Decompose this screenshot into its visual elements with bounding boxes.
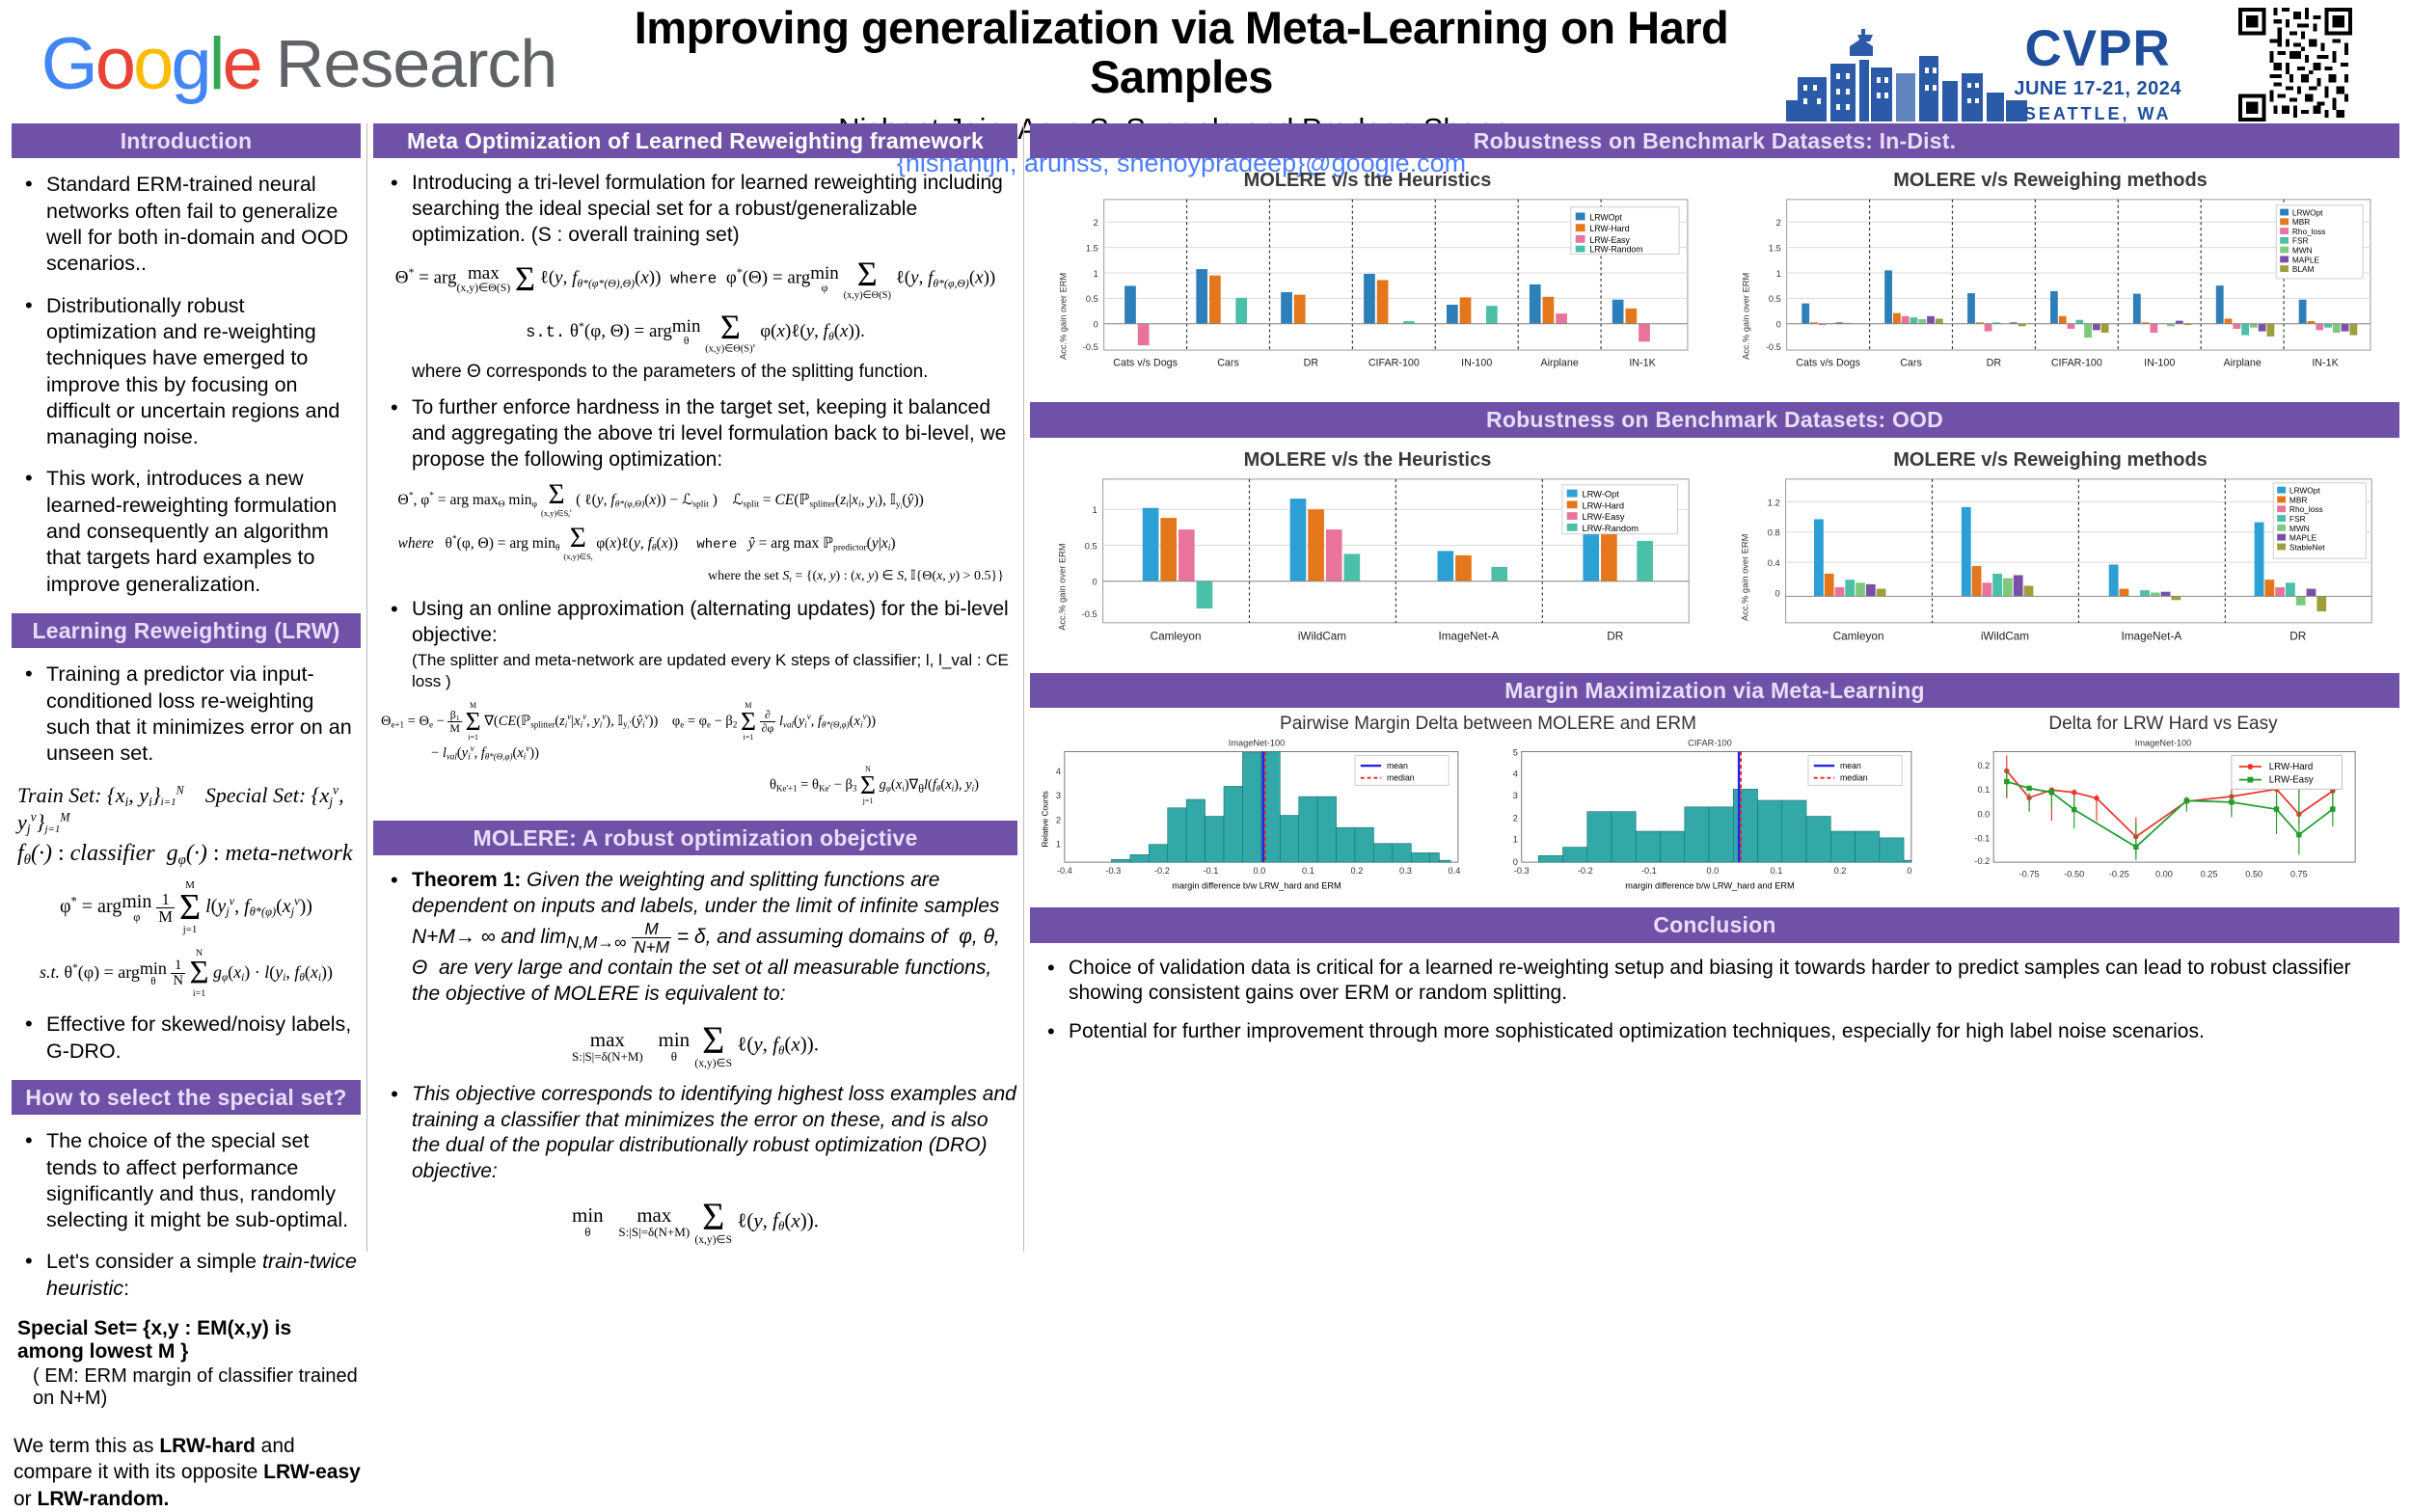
- lrw-bullets: Training a predictor via input-condition…: [12, 661, 361, 767]
- chart-legend: LRW-Hard LRW-Easy: [2232, 756, 2343, 790]
- list-item: To further enforce hardness in the targe…: [383, 395, 1017, 472]
- chart-title: MOLERE v/s Reweighing methods: [1713, 170, 2388, 192]
- section-header-conclusion: Conclusion: [1030, 907, 2399, 942]
- svg-text:FSR: FSR: [2292, 236, 2309, 246]
- svg-text:0.0: 0.0: [1254, 866, 1266, 876]
- equation-bilevel-1: Θ*, φ* = arg maxΘ minφ Σ(x,y)∈Stc ( ℓ(y,…: [383, 482, 1017, 519]
- svg-text:0.50: 0.50: [2245, 870, 2262, 879]
- svg-text:Acc.% gain over ERM: Acc.% gain over ERM: [1742, 273, 1751, 360]
- poster-root: Google Research Improving generalization…: [0, 0, 2411, 1446]
- svg-text:-0.4: -0.4: [1057, 866, 1072, 876]
- svg-text:0: 0: [1094, 320, 1098, 330]
- list-item: Training a predictor via input-condition…: [17, 661, 361, 767]
- em-note: ( EM: ERM margin of classifier trained o…: [33, 1365, 361, 1410]
- svg-text:0.1: 0.1: [1977, 786, 1990, 796]
- chart-ood-reweighting: MOLERE v/s Reweighing methods 1.20.80.40…: [1713, 442, 2388, 667]
- svg-text:4: 4: [1513, 769, 1518, 779]
- online-approx-subnote: (The splitter and meta-network are updat…: [412, 650, 1017, 691]
- svg-text:4: 4: [1056, 767, 1061, 776]
- svg-text:2: 2: [1094, 219, 1098, 229]
- svg-text:3: 3: [1056, 791, 1061, 800]
- equation-dro-minmax: minθ maxS:|S|=δ(N+M) Σ(x,y)∈S ℓ(y, fθ(x)…: [373, 1199, 1017, 1246]
- svg-text:-0.5: -0.5: [1083, 342, 1098, 352]
- svg-text:Cats v/s Dogs: Cats v/s Dogs: [1796, 358, 1860, 369]
- equation-tri-level-2: s.t. θ*(φ, Θ) = argminθ Σ(x,y)∈Θ(S)c φ(x…: [373, 310, 1017, 355]
- svg-text:MAPLE: MAPLE: [2289, 532, 2317, 542]
- svg-text:0.1: 0.1: [1302, 866, 1314, 876]
- svg-text:0.25: 0.25: [2201, 870, 2218, 879]
- equation-bilevel-2: where θ*(φ, Θ) = arg minθ Σ(x,y)∈St φ(x)…: [383, 526, 1017, 562]
- svg-text:DR: DR: [1607, 630, 1623, 642]
- svg-text:0: 0: [1775, 588, 1780, 598]
- chart-ood-heuristics: MOLERE v/s the Heuristics 10.50-0.5 Acc.…: [1030, 442, 1705, 667]
- chart-svg: ImageNet-100: [1030, 735, 1483, 899]
- list-item: Potential for further improvement throug…: [1040, 1019, 2399, 1045]
- chart-title: MOLERE v/s Reweighing methods: [1713, 449, 2388, 472]
- variants-text-f: LRW-random.: [38, 1488, 170, 1510]
- page-title: Improving generalization via Meta-Learni…: [598, 4, 1765, 102]
- svg-text:1.5: 1.5: [1769, 244, 1781, 254]
- svg-text:1: 1: [1093, 505, 1097, 515]
- list-item: Distributionally robust optimization and…: [17, 293, 361, 451]
- section-header-molere: MOLERE: A robust optimization obejctive: [373, 821, 1017, 855]
- svg-text:LRWOpt: LRWOpt: [1589, 213, 1622, 223]
- special-set-definition: Special Set= {x,y : EM(x,y) is among low…: [17, 1317, 361, 1363]
- indist-charts-row: MOLERE v/s the Heuristics 21.51 0.50-0.5…: [1030, 162, 2399, 396]
- svg-text:0.4: 0.4: [1768, 558, 1780, 568]
- svg-text:Acc.% gain over ERM: Acc.% gain over ERM: [1057, 543, 1067, 630]
- list-item: Using an online approximation (alternati…: [383, 597, 1017, 691]
- svg-text:ImageNet-A: ImageNet-A: [1439, 630, 1500, 642]
- section-header-meta-optimization: Meta Optimization of Learned Reweighting…: [373, 123, 1017, 158]
- svg-text:DR: DR: [2289, 630, 2306, 642]
- google-wordmark: Google: [41, 22, 260, 106]
- meta-opt-bullets-3: Using an online approximation (alternati…: [373, 597, 1017, 691]
- svg-text:0.00: 0.00: [2155, 870, 2173, 879]
- chart-title: MOLERE v/s the Heuristics: [1030, 449, 1705, 472]
- svg-text:LRWOpt: LRWOpt: [2292, 208, 2323, 218]
- equation-update-theta-2: − lval(yiv, fθ*(Θ,φ)(xiv)): [431, 743, 1017, 762]
- svg-text:MBR: MBR: [2289, 495, 2308, 504]
- svg-text:median: median: [1840, 773, 1868, 783]
- train-set-label: Train Set: [17, 783, 95, 807]
- svg-text:LRWOpt: LRWOpt: [2289, 485, 2320, 495]
- classifier-label: classifier: [70, 841, 155, 866]
- cvpr-name: CVPR: [2014, 23, 2181, 74]
- svg-text:0.8: 0.8: [1768, 528, 1780, 538]
- online-approx-text: Using an online approximation (alternati…: [412, 598, 1009, 646]
- equation-update-kc: θKe'+1 = θKe' − β3 NΣj=1 gφ(xi)∇θl(fθ(xi…: [373, 766, 1017, 805]
- svg-text:0.5: 0.5: [1769, 295, 1781, 305]
- svg-text:0.75: 0.75: [2290, 870, 2308, 879]
- svg-text:0.5: 0.5: [1085, 541, 1097, 551]
- lrw-equation-theta: s.t. θ*(φ) = argminθ 1N NΣi=1 gφ(xi) · l…: [12, 949, 361, 998]
- right-column: Robustness on Benchmark Datasets: In-Dis…: [1030, 123, 2399, 1055]
- chart-svg: 21.51 0.50-0.5 Acc.% gain over ERM: [1030, 194, 1705, 391]
- chart-legend: LRW-Opt LRW-Hard LRW-Easy LRW-Random: [1562, 485, 1678, 534]
- svg-text:-0.25: -0.25: [2109, 870, 2129, 879]
- lrw-variants-note: We term this as LRW-hard and compare it …: [14, 1433, 361, 1512]
- svg-text:LRW-Easy: LRW-Easy: [2269, 775, 2314, 786]
- research-wordmark: Research: [276, 25, 557, 102]
- section-header-introduction: Introduction: [12, 123, 361, 158]
- chart-svg: 21.51 0.50-0.5 Acc.% gain over ERM: [1713, 194, 2388, 391]
- lrw-set-definitions: Train Set: {xi, yi}i=1N Special Set: {xj…: [17, 783, 361, 837]
- svg-text:iWildCam: iWildCam: [1298, 630, 1346, 642]
- lrw-bullets-2: Effective for skewed/noisy labels, G-DRO…: [12, 1012, 361, 1065]
- svg-text:-0.3: -0.3: [1105, 866, 1121, 876]
- chart-margin-imagenet100: ImageNet-100: [1030, 735, 1483, 904]
- svg-text:IN-1K: IN-1K: [2312, 358, 2339, 369]
- chart-xlabel: margin difference b/w LRW_hard and ERM: [1625, 881, 1794, 891]
- cvpr-text-block: CVPR JUNE 17-21, 2024 SEATTLE, WA: [2014, 23, 2181, 124]
- svg-text:MWN: MWN: [2292, 246, 2313, 256]
- molere-bullets: Theorem 1: Given the weighting and split…: [373, 868, 1017, 1007]
- list-item: Standard ERM-trained neural networks oft…: [17, 172, 361, 277]
- chart-svg: 10.50-0.5 Acc.% gain over ERM: [1030, 473, 1705, 662]
- svg-text:LRW-Random: LRW-Random: [1582, 524, 1639, 533]
- section-header-indist: Robustness on Benchmark Datasets: In-Dis…: [1030, 123, 2399, 158]
- chart-xlabel: margin difference b/w LRW_hard and ERM: [1172, 881, 1341, 891]
- svg-text:0.0: 0.0: [1707, 866, 1720, 876]
- chart-svg: CIFAR-100: [1483, 735, 1937, 899]
- list-item: Theorem 1: Given the weighting and split…: [383, 868, 1017, 1007]
- svg-text:1.5: 1.5: [1086, 244, 1098, 254]
- svg-text:DR: DR: [1304, 358, 1319, 369]
- chart-margin-cifar100: CIFAR-100: [1483, 735, 1937, 904]
- special-set-bullets: The choice of the special set tends to a…: [12, 1128, 361, 1302]
- list-item: Choice of validation data is critical fo…: [1040, 956, 2399, 1007]
- chart-legend: LRWOpt LRW-Hard LRW-Easy LRW-Random: [1571, 207, 1679, 255]
- variants-text-d: LRW-easy: [263, 1461, 361, 1483]
- list-item: This work, introduces a new learned-rewe…: [17, 466, 361, 597]
- chart-legend: mean median: [1808, 756, 1902, 786]
- svg-text:median: median: [1387, 773, 1415, 783]
- list-item: Effective for skewed/noisy labels, G-DRO…: [17, 1012, 361, 1065]
- svg-text:2: 2: [1776, 219, 1781, 229]
- introduction-bullets: Standard ERM-trained neural networks oft…: [12, 172, 361, 597]
- list-item: Introducing a tri-level formulation for …: [383, 171, 1017, 248]
- svg-text:MWN: MWN: [2289, 524, 2310, 533]
- svg-text:0.1: 0.1: [1771, 866, 1783, 876]
- svg-text:IN-1K: IN-1K: [1629, 358, 1656, 369]
- variants-text-e: or: [14, 1488, 38, 1510]
- svg-text:MAPLE: MAPLE: [2292, 256, 2320, 265]
- svg-text:-0.75: -0.75: [2019, 870, 2040, 879]
- cvpr-logo: CVPR JUNE 17-21, 2024 SEATTLE, WA: [1786, 6, 2191, 121]
- svg-text:DR: DR: [1987, 358, 2002, 369]
- svg-text:0.4: 0.4: [1449, 866, 1461, 876]
- svg-text:2: 2: [1513, 814, 1518, 823]
- svg-text:Acc.% gain over ERM: Acc.% gain over ERM: [1059, 273, 1069, 360]
- svg-text:-0.1: -0.1: [1203, 866, 1218, 876]
- svg-text:0.3: 0.3: [1399, 866, 1412, 876]
- svg-text:-0.2: -0.2: [1974, 856, 1990, 866]
- meta-opt-bullets-2: To further enforce hardness in the targe…: [373, 395, 1017, 472]
- theorem-label: Theorem 1:: [412, 869, 521, 891]
- chart-indist-heuristics: MOLERE v/s the Heuristics 21.51 0.50-0.5…: [1030, 162, 1705, 396]
- lrw-function-definitions: fθ(·) : classifier gφ(·) : meta-network: [17, 841, 361, 869]
- left-column: Introduction Standard ERM-trained neural…: [12, 123, 361, 1512]
- svg-text:iWildCam: iWildCam: [1981, 630, 2029, 642]
- svg-text:0: 0: [1776, 320, 1781, 330]
- chart-svg: ImageNet-100 0.20.10.0 -0.1-0.2 -0.75-0.…: [1946, 735, 2380, 899]
- svg-text:Relative Counts: Relative Counts: [1041, 792, 1049, 848]
- chart-section-title: Pairwise Margin Delta between MOLERE and…: [1030, 714, 1946, 735]
- svg-text:0.2: 0.2: [1834, 866, 1847, 876]
- svg-text:0: 0: [1907, 866, 1911, 876]
- chart-indist-reweighting: MOLERE v/s Reweighing methods 21.51 0.50…: [1713, 162, 2388, 396]
- ood-charts-row: MOLERE v/s the Heuristics 10.50-0.5 Acc.…: [1030, 442, 2399, 667]
- list-item: Let's consider a simple train-twice heur…: [17, 1249, 361, 1302]
- svg-text:-0.2: -0.2: [1154, 866, 1170, 876]
- svg-text:1: 1: [1776, 269, 1781, 279]
- svg-text:LRW-Hard: LRW-Hard: [1589, 224, 1629, 233]
- chart-title: ImageNet-100: [2135, 739, 2191, 748]
- splitting-function-note: where Θ corresponds to the parameters of…: [412, 362, 1017, 383]
- svg-text:IN-100: IN-100: [1461, 358, 1492, 369]
- svg-text:1: 1: [1056, 840, 1061, 850]
- svg-text:BLAM: BLAM: [2292, 264, 2315, 274]
- svg-text:CIFAR-100: CIFAR-100: [1368, 358, 1420, 369]
- metanetwork-label: meta-network: [226, 841, 353, 866]
- chart-delta-lrw: Delta for LRW Hard vs Easy ImageNet-100 …: [1946, 714, 2380, 904]
- svg-text:0.2: 0.2: [1351, 866, 1364, 876]
- cvpr-dates: JUNE 17-21, 2024: [2014, 78, 2181, 100]
- equation-update-theta: Θe+1 = Θe − β1M MΣi=1 ∇(CE(ℙsplitter(ziv…: [381, 702, 1017, 742]
- google-research-logo: Google Research: [19, 10, 579, 118]
- chart-legend: mean median: [1355, 756, 1449, 786]
- svg-text:0.5: 0.5: [1086, 295, 1098, 305]
- svg-text:LRW-Opt: LRW-Opt: [1582, 489, 1619, 499]
- svg-text:Rho_loss: Rho_loss: [2292, 227, 2326, 236]
- svg-text:LRW-Random: LRW-Random: [1589, 245, 1642, 255]
- list-item: The choice of the special set tends to a…: [17, 1128, 361, 1233]
- middle-column: Meta Optimization of Learned Reweighting…: [366, 123, 1024, 1252]
- svg-text:CIFAR-100: CIFAR-100: [2051, 358, 2102, 369]
- equation-set-definition: where the set St = {(x, y) : (x, y) ∈ S,…: [373, 568, 1004, 584]
- svg-text:IN-100: IN-100: [2144, 358, 2175, 369]
- svg-text:LRW-Hard: LRW-Hard: [2269, 762, 2313, 772]
- svg-text:LRW-Easy: LRW-Easy: [1589, 235, 1630, 245]
- margin-hist-row: ImageNet-100: [1030, 735, 1946, 904]
- svg-text:Cars: Cars: [1217, 358, 1239, 369]
- equation-molere-maxmin: maxS:|S|=δ(N+M) minθ Σ(x,y)∈S ℓ(y, fθ(x)…: [373, 1022, 1017, 1069]
- chart-svg: 1.20.80.40 Acc.% gain over ERM: [1713, 473, 2388, 662]
- svg-text:-0.1: -0.1: [1641, 866, 1657, 876]
- svg-text:Cats v/s Dogs: Cats v/s Dogs: [1113, 358, 1178, 369]
- svg-text:1.2: 1.2: [1768, 498, 1780, 507]
- svg-text:Acc.% gain over ERM: Acc.% gain over ERM: [1740, 533, 1749, 620]
- svg-text:5: 5: [1513, 748, 1518, 758]
- svg-text:-0.2: -0.2: [1578, 866, 1593, 876]
- margin-pairwise-block: Pairwise Margin Delta between MOLERE and…: [1030, 714, 1946, 904]
- svg-text:-0.5: -0.5: [1082, 609, 1097, 619]
- svg-text:-0.1: -0.1: [1974, 834, 1990, 844]
- svg-text:-0.50: -0.50: [2064, 870, 2084, 879]
- svg-text:Cars: Cars: [1900, 358, 1922, 369]
- list-item: This objective corresponds to identifyin…: [383, 1082, 1017, 1185]
- meta-opt-bullets: Introducing a tri-level formulation for …: [373, 171, 1017, 248]
- svg-text:mean: mean: [1840, 761, 1861, 770]
- molere-bullets-2: This objective corresponds to identifyin…: [373, 1082, 1017, 1185]
- svg-text:Camleyon: Camleyon: [1833, 630, 1884, 642]
- svg-text:1: 1: [1513, 835, 1518, 845]
- seattle-skyline-icon: [1786, 17, 2027, 121]
- special-set-label: Special Set: [205, 783, 299, 807]
- svg-text:-0.3: -0.3: [1514, 866, 1530, 876]
- section-header-lrw: Learning Reweighting (LRW): [12, 613, 361, 648]
- chart-title: CIFAR-100: [1688, 739, 1732, 748]
- svg-text:-0.5: -0.5: [1766, 342, 1781, 352]
- chart-title: MOLERE v/s the Heuristics: [1030, 170, 1705, 192]
- svg-text:LRW-Easy: LRW-Easy: [1582, 512, 1624, 522]
- svg-text:1: 1: [1094, 269, 1098, 279]
- svg-text:3: 3: [1513, 791, 1518, 800]
- cvpr-city: SEATTLE, WA: [2014, 104, 2181, 124]
- svg-text:Rho_loss: Rho_loss: [2289, 504, 2323, 514]
- svg-text:LRW-Hard: LRW-Hard: [1582, 500, 1624, 510]
- svg-text:0: 0: [1093, 578, 1097, 587]
- svg-text:0.2: 0.2: [1977, 761, 1990, 770]
- svg-text:Camleyon: Camleyon: [1151, 630, 1202, 642]
- svg-text:StableNet: StableNet: [2289, 542, 2325, 552]
- qr-code-icon[interactable]: [2201, 8, 2390, 121]
- svg-text:FSR: FSR: [2289, 514, 2306, 524]
- lrw-equation-phi: φ* = argminφ 1M MΣj=1 l(yjv, fθ*(φ)(xjv)…: [12, 880, 361, 935]
- svg-text:ImageNet-A: ImageNet-A: [2122, 630, 2182, 642]
- svg-text:0.0: 0.0: [1977, 810, 1990, 820]
- conclusion-bullets: Choice of validation data is critical fo…: [1030, 956, 2399, 1045]
- equation-tri-level-1: Θ* = argmax(x,y)∈Θ(S) Σ ℓ(y, fθ*(φ*(Θ),Θ…: [373, 257, 1017, 300]
- chart-legend: LRWOpt MBR Rho_loss FSR MWN MAPLE BLAM: [2276, 205, 2363, 279]
- svg-text:2: 2: [1056, 816, 1061, 825]
- svg-text:MBR: MBR: [2292, 218, 2310, 228]
- section-header-margin: Margin Maximization via Meta-Learning: [1030, 673, 2399, 708]
- section-header-special-set: How to select the special set?: [12, 1080, 361, 1115]
- margin-charts-row: Pairwise Margin Delta between MOLERE and…: [1030, 714, 2399, 904]
- chart-section-title: Delta for LRW Hard vs Easy: [1946, 714, 2380, 735]
- chart-legend: LRWOpt MBR Rho_loss FSR MWN MAPLE Stable…: [2273, 483, 2366, 558]
- svg-text:Airplane: Airplane: [1540, 358, 1578, 369]
- section-header-ood: Robustness on Benchmark Datasets: OOD: [1030, 402, 2399, 437]
- svg-text:mean: mean: [1387, 761, 1408, 770]
- chart-title: ImageNet-100: [1229, 739, 1285, 748]
- svg-text:Airplane: Airplane: [2223, 358, 2261, 369]
